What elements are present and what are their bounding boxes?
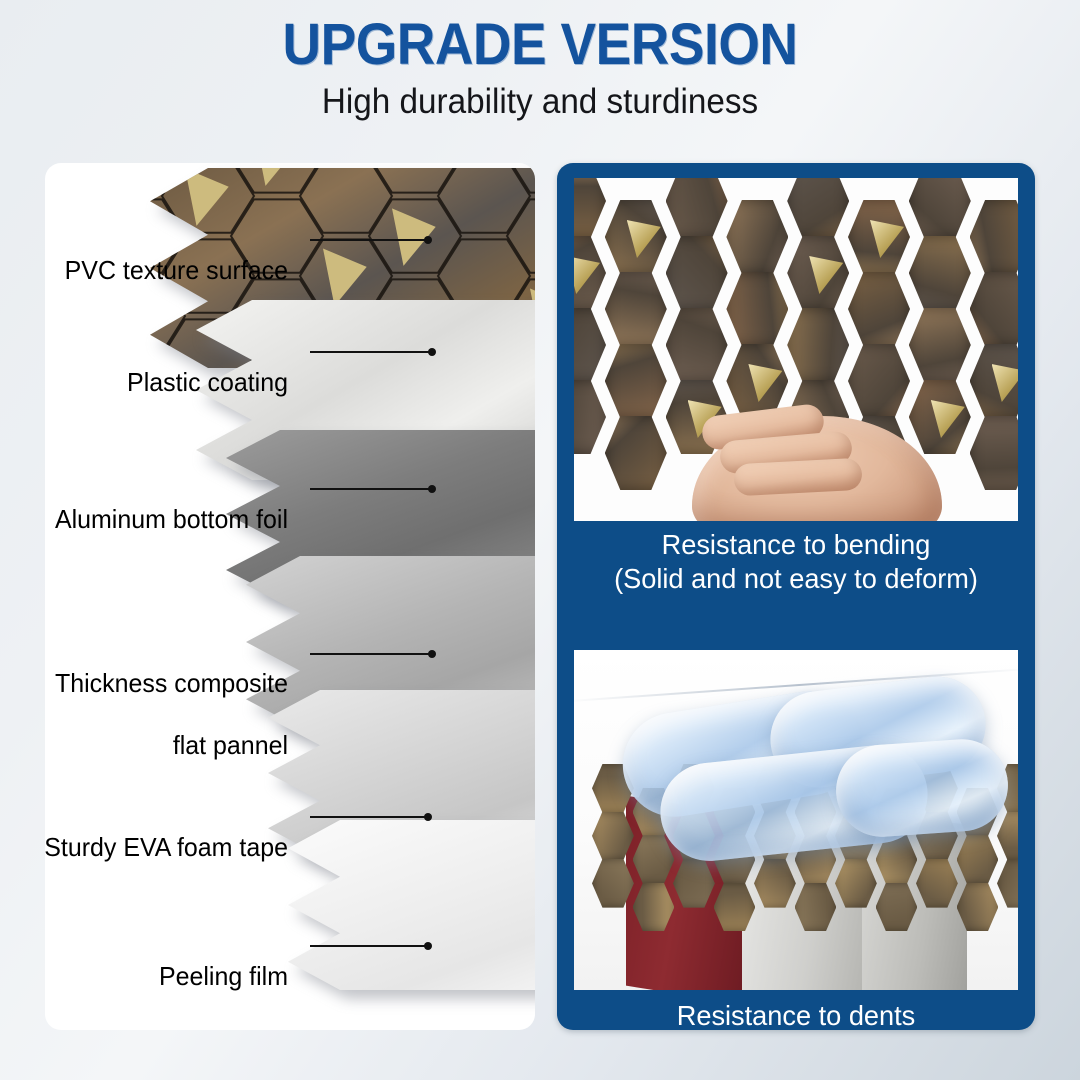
photo-resistance-to-dents <box>574 650 1018 990</box>
leader-dot-5 <box>424 942 432 950</box>
slab-hexagon <box>592 859 634 908</box>
tile-hexagon <box>666 178 728 238</box>
leader-line-0 <box>310 239 428 241</box>
slab-hexagon <box>957 835 999 884</box>
tile-hexagon <box>574 380 606 454</box>
tile-hexagon <box>726 200 788 274</box>
tile-hexagon <box>726 272 788 346</box>
tile-hexagon <box>787 178 849 238</box>
leader-line-4 <box>310 816 428 818</box>
tile-hexagon <box>574 308 606 382</box>
leader-line-2 <box>310 488 432 490</box>
tile-hexagon <box>909 178 971 238</box>
tile-hexagon <box>666 308 728 382</box>
caption-dents: Resistance to dents (superior in terms o… <box>564 999 1028 1030</box>
glass-bottle-4 <box>833 736 1011 840</box>
tile-hexagon <box>787 308 849 382</box>
layer-label-0: PVC texture surface <box>0 224 288 317</box>
leader-line-1 <box>310 351 432 353</box>
slab-hexagon <box>754 859 796 908</box>
slab-hexagon <box>633 835 675 884</box>
leader-dot-0 <box>424 236 432 244</box>
slab-hexagon <box>916 859 958 908</box>
caption-bending: Resistance to bending (Solid and not eas… <box>564 528 1028 596</box>
hexagon-tile-field <box>574 178 1018 444</box>
slab-hexagon <box>835 859 877 908</box>
leader-dot-3 <box>428 650 436 658</box>
leader-dot-4 <box>424 813 432 821</box>
layer-label-4: Sturdy EVA foam tape <box>0 801 288 894</box>
tile-hexagon <box>605 272 667 346</box>
infographic-root: UPGRADE VERSION High durability and stur… <box>0 0 1080 1080</box>
tile-hexagon <box>848 272 910 346</box>
slab-hexagon <box>673 859 715 908</box>
slab-hexagon <box>592 812 634 861</box>
tile-hexagon <box>574 178 606 238</box>
proof-card: Resistance to bending (Solid and not eas… <box>557 163 1035 1030</box>
leader-dot-1 <box>428 348 436 356</box>
photo-resistance-to-bending <box>574 178 1018 521</box>
finger-3 <box>733 458 862 497</box>
tile-hexagon <box>848 344 910 418</box>
leader-line-5 <box>310 945 428 947</box>
tile-hexagon <box>605 344 667 418</box>
leader-dot-2 <box>428 485 436 493</box>
leader-line-3 <box>310 653 432 655</box>
layer-label-3: Thickness composite flat pannel <box>0 637 288 792</box>
layer-label-1: Plastic coating <box>0 336 288 429</box>
layer-label-5: Peeling film <box>0 930 288 1023</box>
layer-label-2: Aluminum bottom foil <box>0 473 288 566</box>
tile-hexagon <box>909 236 971 310</box>
layer-labels: PVC texture surface Plastic coating Alum… <box>0 0 535 867</box>
tile-hexagon <box>909 308 971 382</box>
tile-hexagon <box>666 236 728 310</box>
tile-hexagon <box>970 200 1018 274</box>
tile-hexagon <box>970 272 1018 346</box>
